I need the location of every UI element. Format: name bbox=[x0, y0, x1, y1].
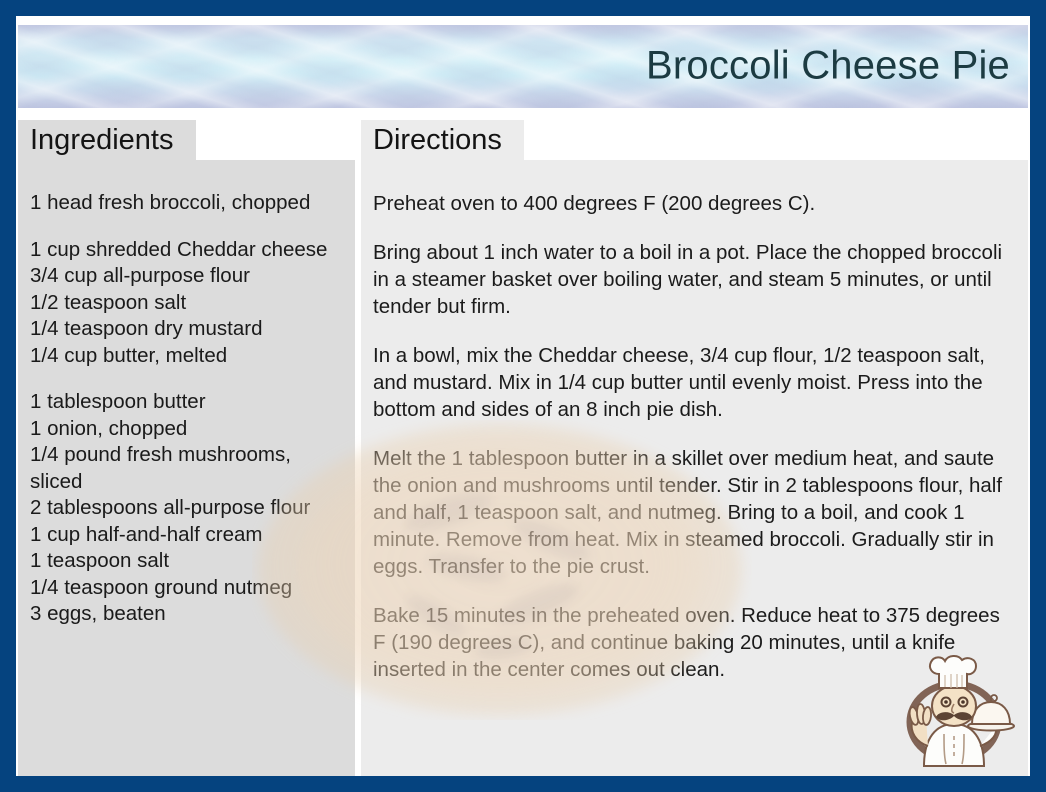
ingredient-item: 1 head fresh broccoli, chopped bbox=[30, 190, 341, 217]
direction-step: Bring about 1 inch water to a boil in a … bbox=[373, 239, 1014, 320]
recipe-card-page: Broccoli Cheese Pie Ingredients 1 head f… bbox=[0, 0, 1046, 792]
ingredient-item: 1 onion, chopped bbox=[30, 416, 341, 443]
directions-column: Directions Preheat oven to 400 degrees F… bbox=[361, 120, 1028, 776]
tab-ingredients[interactable]: Ingredients bbox=[18, 120, 196, 163]
ingredients-column: Ingredients 1 head fresh broccoli, chopp… bbox=[18, 120, 355, 776]
ingredient-group: 1 tablespoon butter 1 onion, chopped 1/4… bbox=[30, 389, 341, 628]
tab-directions[interactable]: Directions bbox=[361, 120, 524, 163]
direction-step: Bake 15 minutes in the preheated oven. R… bbox=[373, 602, 1014, 683]
title-banner: Broccoli Cheese Pie bbox=[18, 25, 1028, 108]
ingredient-item: 1 teaspoon salt bbox=[30, 548, 341, 575]
ingredient-item: 3 eggs, beaten bbox=[30, 601, 341, 628]
ingredient-item: 1 cup half-and-half cream bbox=[30, 522, 341, 549]
ingredient-item: 1/4 cup butter, melted bbox=[30, 343, 341, 370]
ingredient-group: 1 head fresh broccoli, chopped bbox=[30, 190, 341, 217]
ingredient-item: 1 tablespoon butter bbox=[30, 389, 341, 416]
ingredient-item: 1/4 teaspoon dry mustard bbox=[30, 316, 341, 343]
ingredient-item: 1/4 teaspoon ground nutmeg bbox=[30, 575, 341, 602]
ingredient-group: 1 cup shredded Cheddar cheese 3/4 cup al… bbox=[30, 237, 341, 370]
ingredient-item: 3/4 cup all-purpose flour bbox=[30, 263, 341, 290]
ingredient-item: 1 cup shredded Cheddar cheese bbox=[30, 237, 341, 264]
ingredient-item: 2 tablespoons all-purpose flour bbox=[30, 495, 341, 522]
ingredient-item: 1/4 pound fresh mushrooms, sliced bbox=[30, 442, 341, 495]
direction-step: Preheat oven to 400 degrees F (200 degre… bbox=[373, 190, 1014, 217]
recipe-card-inner: Broccoli Cheese Pie Ingredients 1 head f… bbox=[16, 16, 1030, 776]
direction-step: In a bowl, mix the Cheddar cheese, 3/4 c… bbox=[373, 342, 1014, 423]
ingredients-panel: 1 head fresh broccoli, chopped 1 cup shr… bbox=[18, 160, 355, 776]
ingredient-item: 1/2 teaspoon salt bbox=[30, 290, 341, 317]
direction-step: Melt the 1 tablespoon butter in a skille… bbox=[373, 445, 1014, 580]
directions-panel: Preheat oven to 400 degrees F (200 degre… bbox=[361, 160, 1028, 776]
recipe-title: Broccoli Cheese Pie bbox=[646, 43, 1010, 88]
